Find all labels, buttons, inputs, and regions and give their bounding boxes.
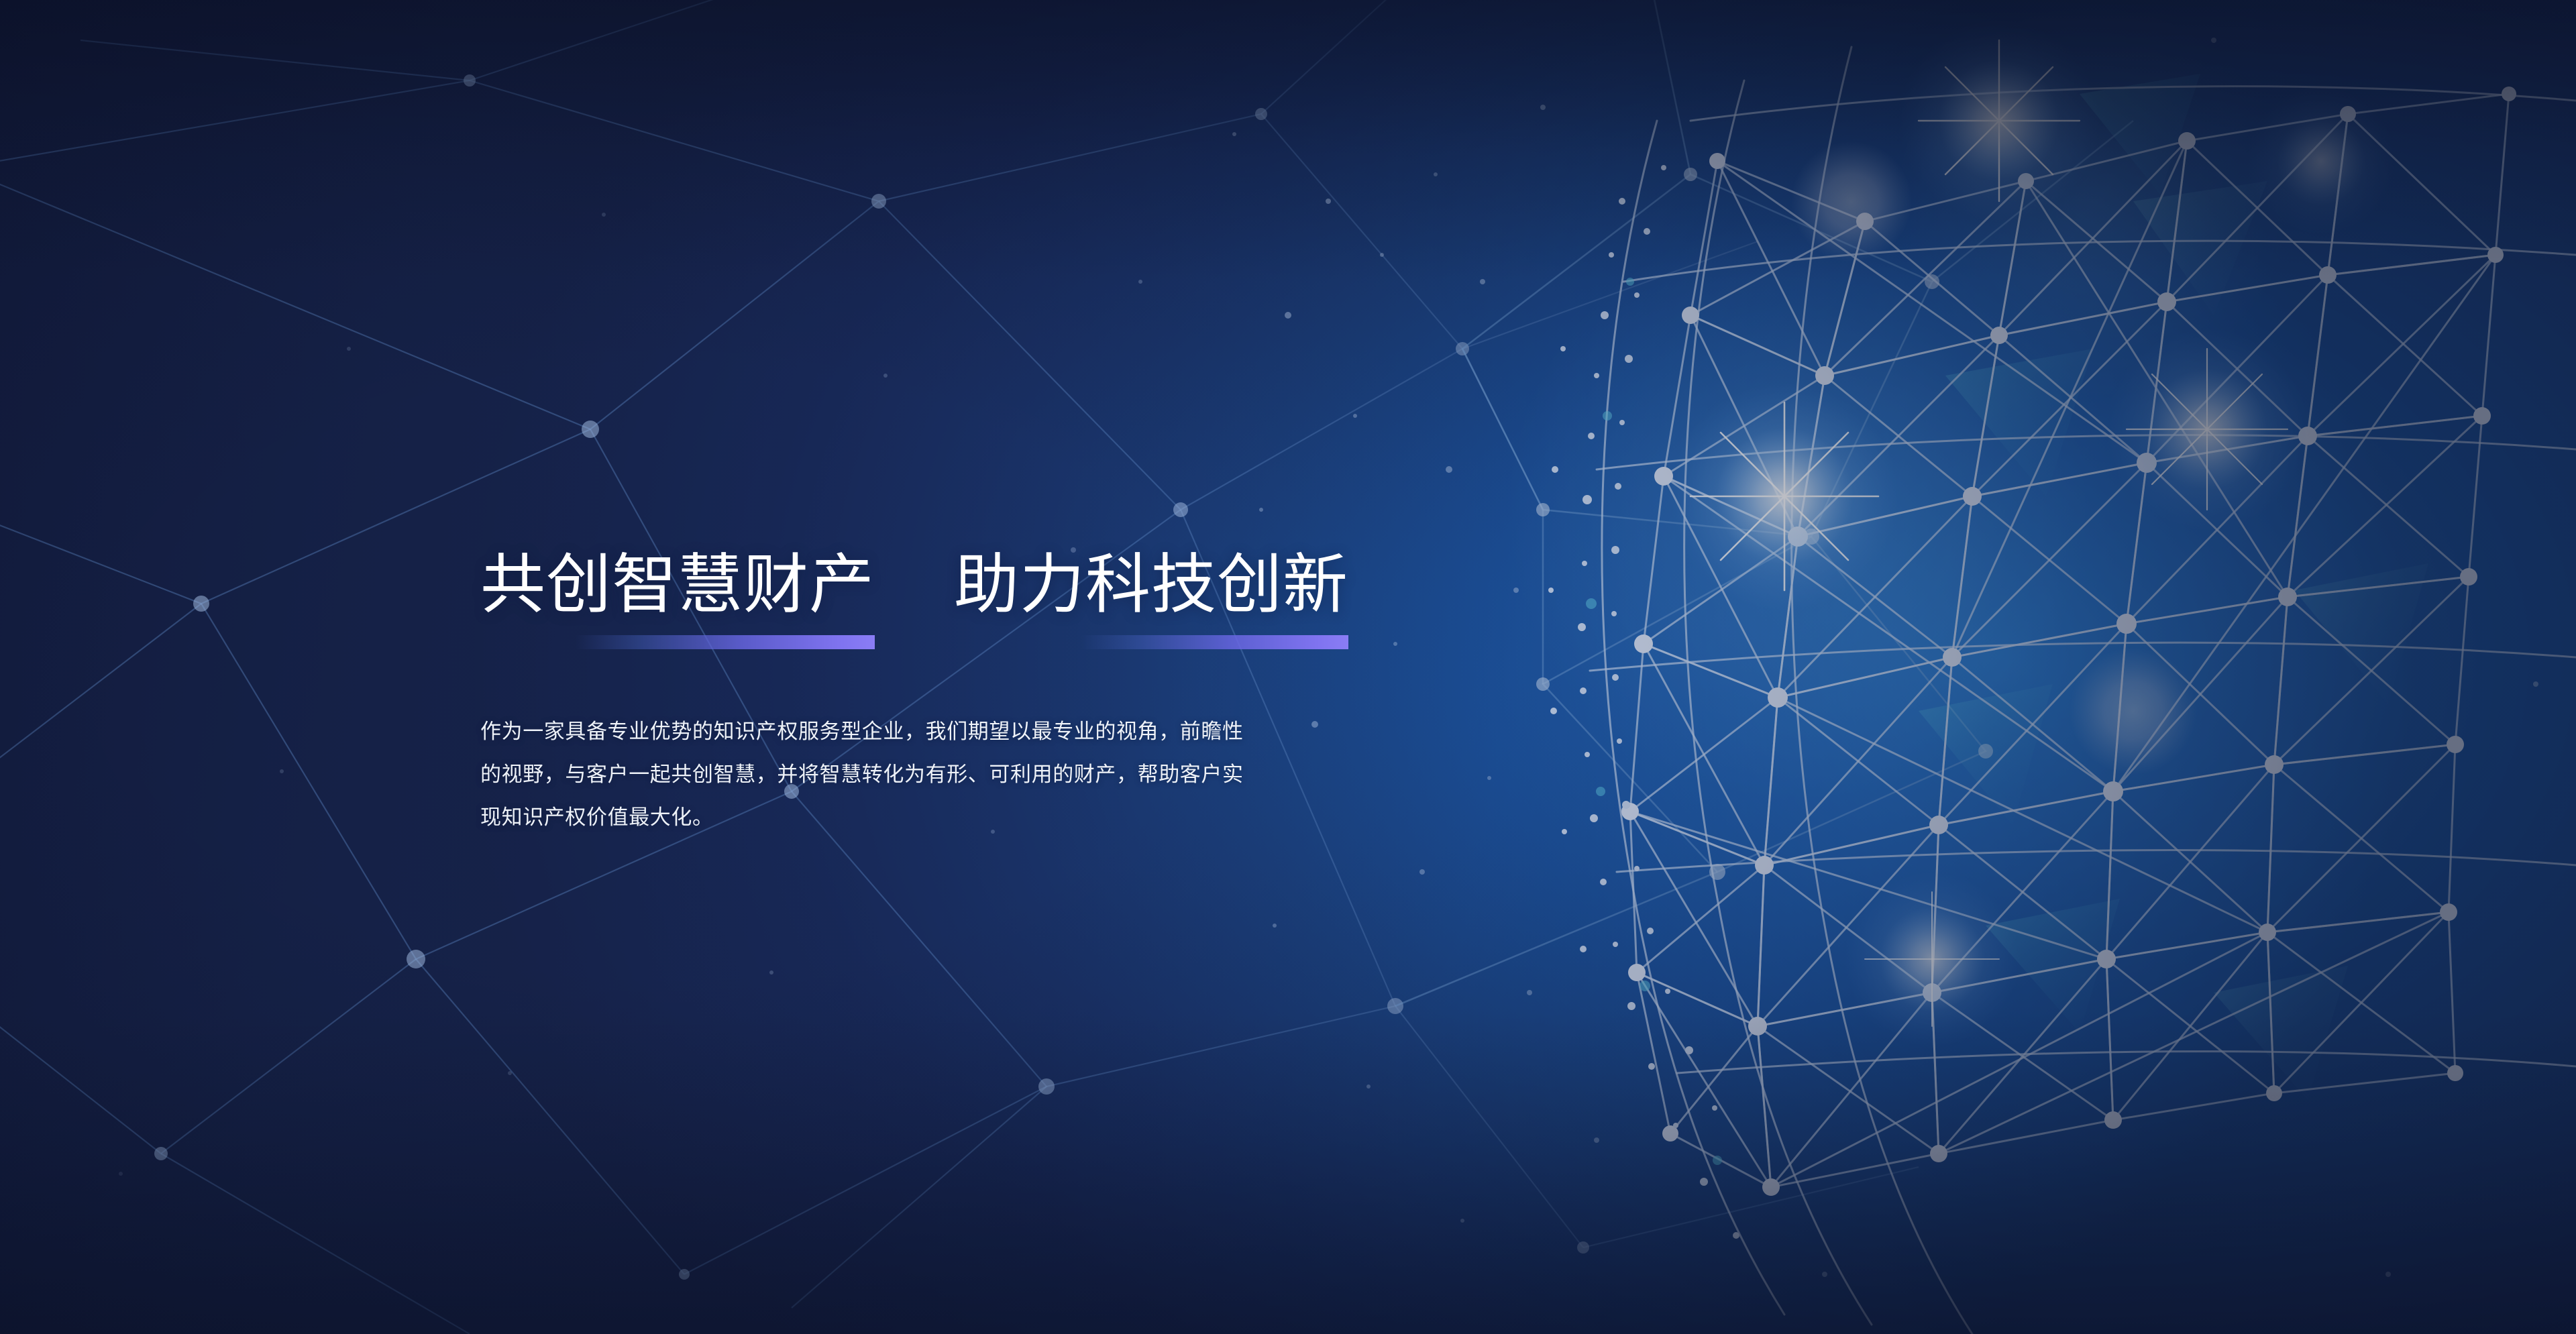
description-text: 作为一家具备专业优势的知识产权服务型企业，我们期望以最专业的视角，前瞻性的视野，…	[480, 710, 1258, 839]
headline-part-1: 共创智慧财产	[480, 550, 875, 620]
headline-underline-2	[1081, 635, 1348, 649]
headline-text-2: 助力科技创新	[954, 550, 1348, 620]
headline-part-2: 助力科技创新	[954, 550, 1348, 620]
description-paragraph: 作为一家具备专业优势的知识产权服务型企业，我们期望以最专业的视角，前瞻性的视野，…	[480, 710, 1258, 839]
banner-root: 共创智慧财产 助力科技创新 作为一家具备专业优势的知识产权服务型企业，我们期望以…	[0, 0, 2576, 1334]
banner-content: 共创智慧财产 助力科技创新 作为一家具备专业优势的知识产权服务型企业，我们期望以…	[480, 550, 1487, 839]
headline-underline-1	[576, 635, 875, 649]
headline-text-1: 共创智慧财产	[480, 550, 875, 620]
headline: 共创智慧财产 助力科技创新	[480, 550, 1487, 620]
